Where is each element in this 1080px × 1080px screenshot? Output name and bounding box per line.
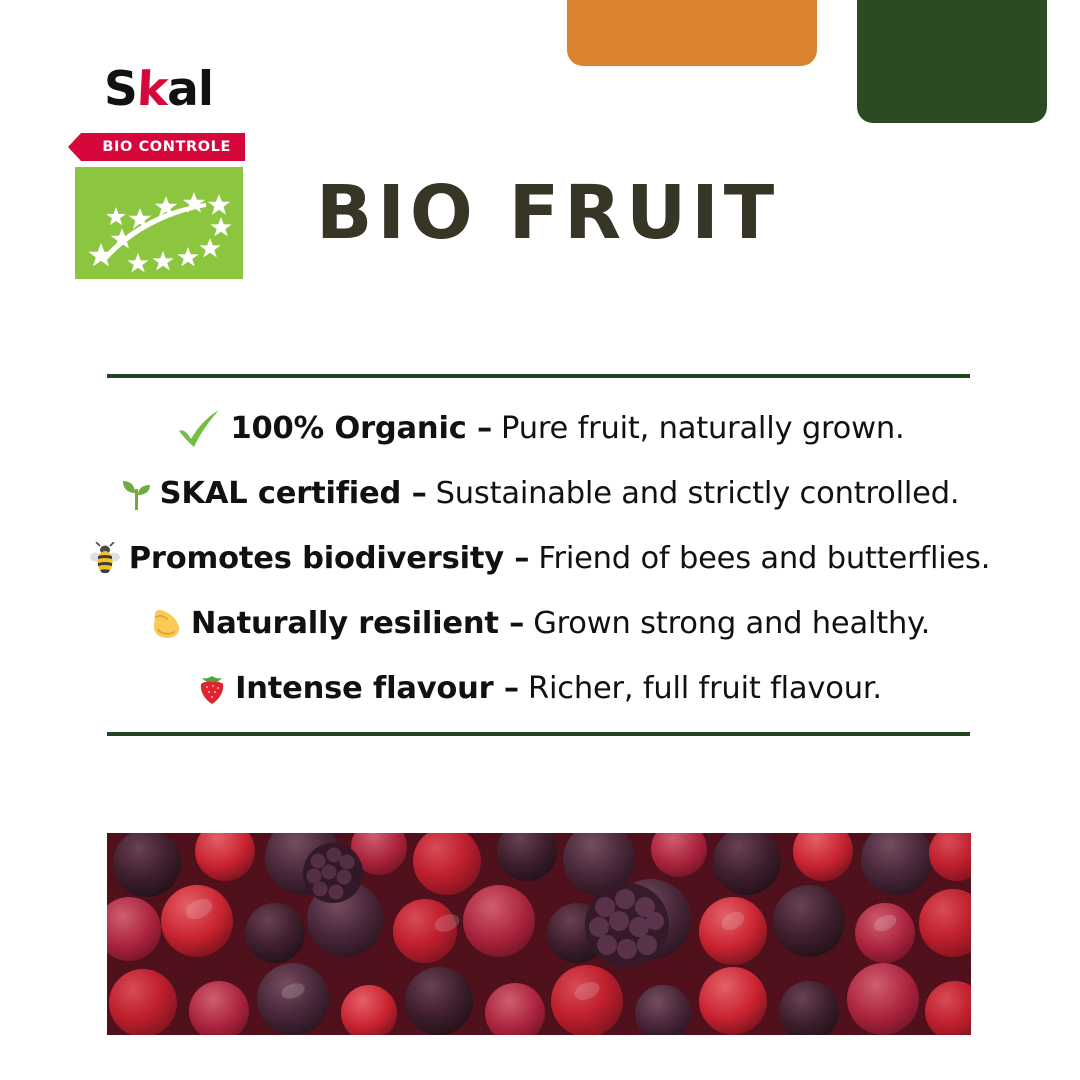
feature-item-biodiversity-rest: Friend of bees and butterflies. bbox=[538, 541, 990, 576]
skal-logo: Skal BIO CONTROLE bbox=[68, 66, 328, 118]
divider-top bbox=[107, 374, 970, 378]
feature-item-resilient-bold: Naturally resilient – bbox=[191, 606, 524, 641]
feature-item-skal-rest: Sustainable and strictly controlled. bbox=[436, 476, 960, 511]
skal-wordmark-al: al bbox=[167, 62, 213, 117]
flexed-biceps-icon bbox=[150, 608, 182, 640]
seedling-icon bbox=[121, 477, 151, 510]
feature-list: 100% Organic – Pure fruit, naturally gro… bbox=[0, 396, 1080, 721]
eu-organic-leaf-logo bbox=[75, 167, 243, 279]
feature-item-biodiversity-bold: Promotes biodiversity – bbox=[129, 541, 530, 576]
feature-item-organic: 100% Organic – Pure fruit, naturally gro… bbox=[0, 396, 1080, 461]
feature-item-flavour-bold: Intense flavour – bbox=[235, 671, 519, 706]
feature-item-skal-bold: SKAL certified – bbox=[160, 476, 427, 511]
skal-wordmark-k: k bbox=[136, 66, 169, 113]
feature-item-organic-bold: 100% Organic – bbox=[231, 411, 493, 446]
bio-controle-banner: BIO CONTROLE bbox=[68, 133, 245, 161]
feature-item-resilient-rest: Grown strong and healthy. bbox=[533, 606, 930, 641]
feature-item-biodiversity: Promotes biodiversity – Friend of bees a… bbox=[0, 526, 1080, 591]
bee-icon bbox=[90, 542, 120, 575]
feature-item-flavour: Intense flavour – Richer, full fruit fla… bbox=[0, 656, 1080, 721]
feature-item-flavour-rest: Richer, full fruit flavour. bbox=[528, 671, 882, 706]
decorative-block-green bbox=[857, 0, 1047, 123]
divider-bottom bbox=[107, 732, 970, 736]
bio-controle-label: BIO CONTROLE bbox=[102, 139, 231, 155]
berry-photo bbox=[107, 833, 971, 1035]
feature-item-organic-rest: Pure fruit, naturally grown. bbox=[501, 411, 904, 446]
feature-item-skal: SKAL certified – Sustainable and strictl… bbox=[0, 461, 1080, 526]
feature-item-resilient: Naturally resilient – Grown strong and h… bbox=[0, 591, 1080, 656]
skal-wordmark-s: S bbox=[104, 62, 137, 117]
skal-wordmark: Skal bbox=[68, 66, 328, 118]
decorative-block-orange bbox=[567, 0, 817, 66]
check-mark-icon bbox=[176, 408, 222, 450]
strawberry-icon bbox=[198, 673, 226, 705]
page-title: BIO FRUIT bbox=[316, 170, 779, 256]
